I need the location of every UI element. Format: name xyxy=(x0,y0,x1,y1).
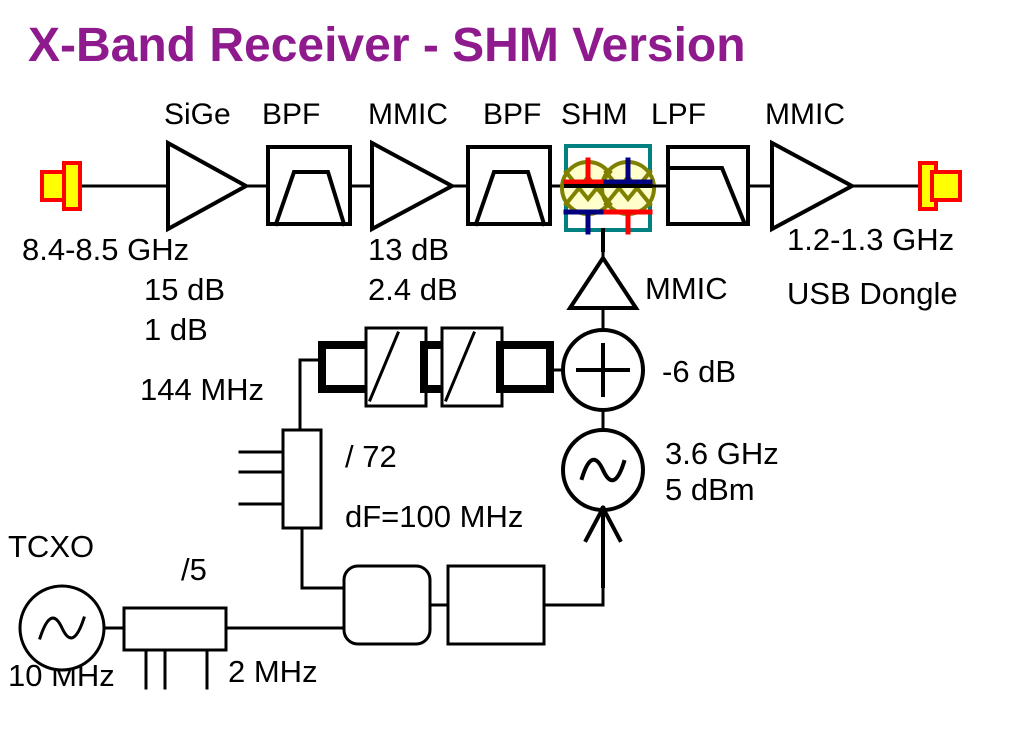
schematic-drawing xyxy=(0,0,1035,738)
lpf-box xyxy=(668,147,748,224)
input-connector-flange xyxy=(64,163,80,209)
diagram-canvas: X-Band Receiver - SHM Version SiGe BPF M… xyxy=(0,0,1035,738)
amp-b xyxy=(500,345,550,389)
lo-mmic-amp xyxy=(570,258,636,308)
tcxo-divider xyxy=(124,608,226,650)
wire-div72-psd xyxy=(302,528,344,588)
divider-72 xyxy=(283,430,321,528)
input-connector xyxy=(42,163,80,209)
output-connector-body xyxy=(932,172,960,200)
sige-amp xyxy=(168,143,246,229)
vco-tune-arrow-l xyxy=(586,508,603,540)
mmic-amp1 xyxy=(372,143,452,229)
loop-box xyxy=(448,566,544,644)
psd-box xyxy=(344,566,430,644)
wire-loop-vco xyxy=(544,586,603,605)
vco-tune-arrow-r xyxy=(603,508,620,540)
output-connector xyxy=(920,163,960,209)
mmic-amp2 xyxy=(772,143,852,229)
